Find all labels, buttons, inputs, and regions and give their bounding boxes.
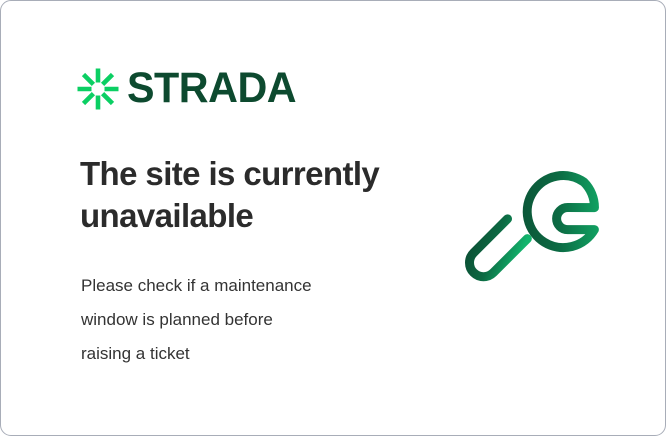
status-page-card: STRADA The site is currently unavailable… — [0, 0, 666, 436]
description-line: Please check if a maintenance — [81, 269, 381, 303]
brand-lockup: STRADA — [77, 67, 303, 110]
wrench-icon — [453, 153, 613, 313]
page-title: The site is currently unavailable — [80, 153, 410, 237]
page-description: Please check if a maintenance window is … — [81, 269, 381, 371]
description-line: window is planned before — [81, 303, 381, 337]
brand-wordmark: STRADA — [127, 67, 296, 110]
asterisk-starburst-icon — [77, 68, 119, 110]
description-line: raising a ticket — [81, 337, 381, 371]
